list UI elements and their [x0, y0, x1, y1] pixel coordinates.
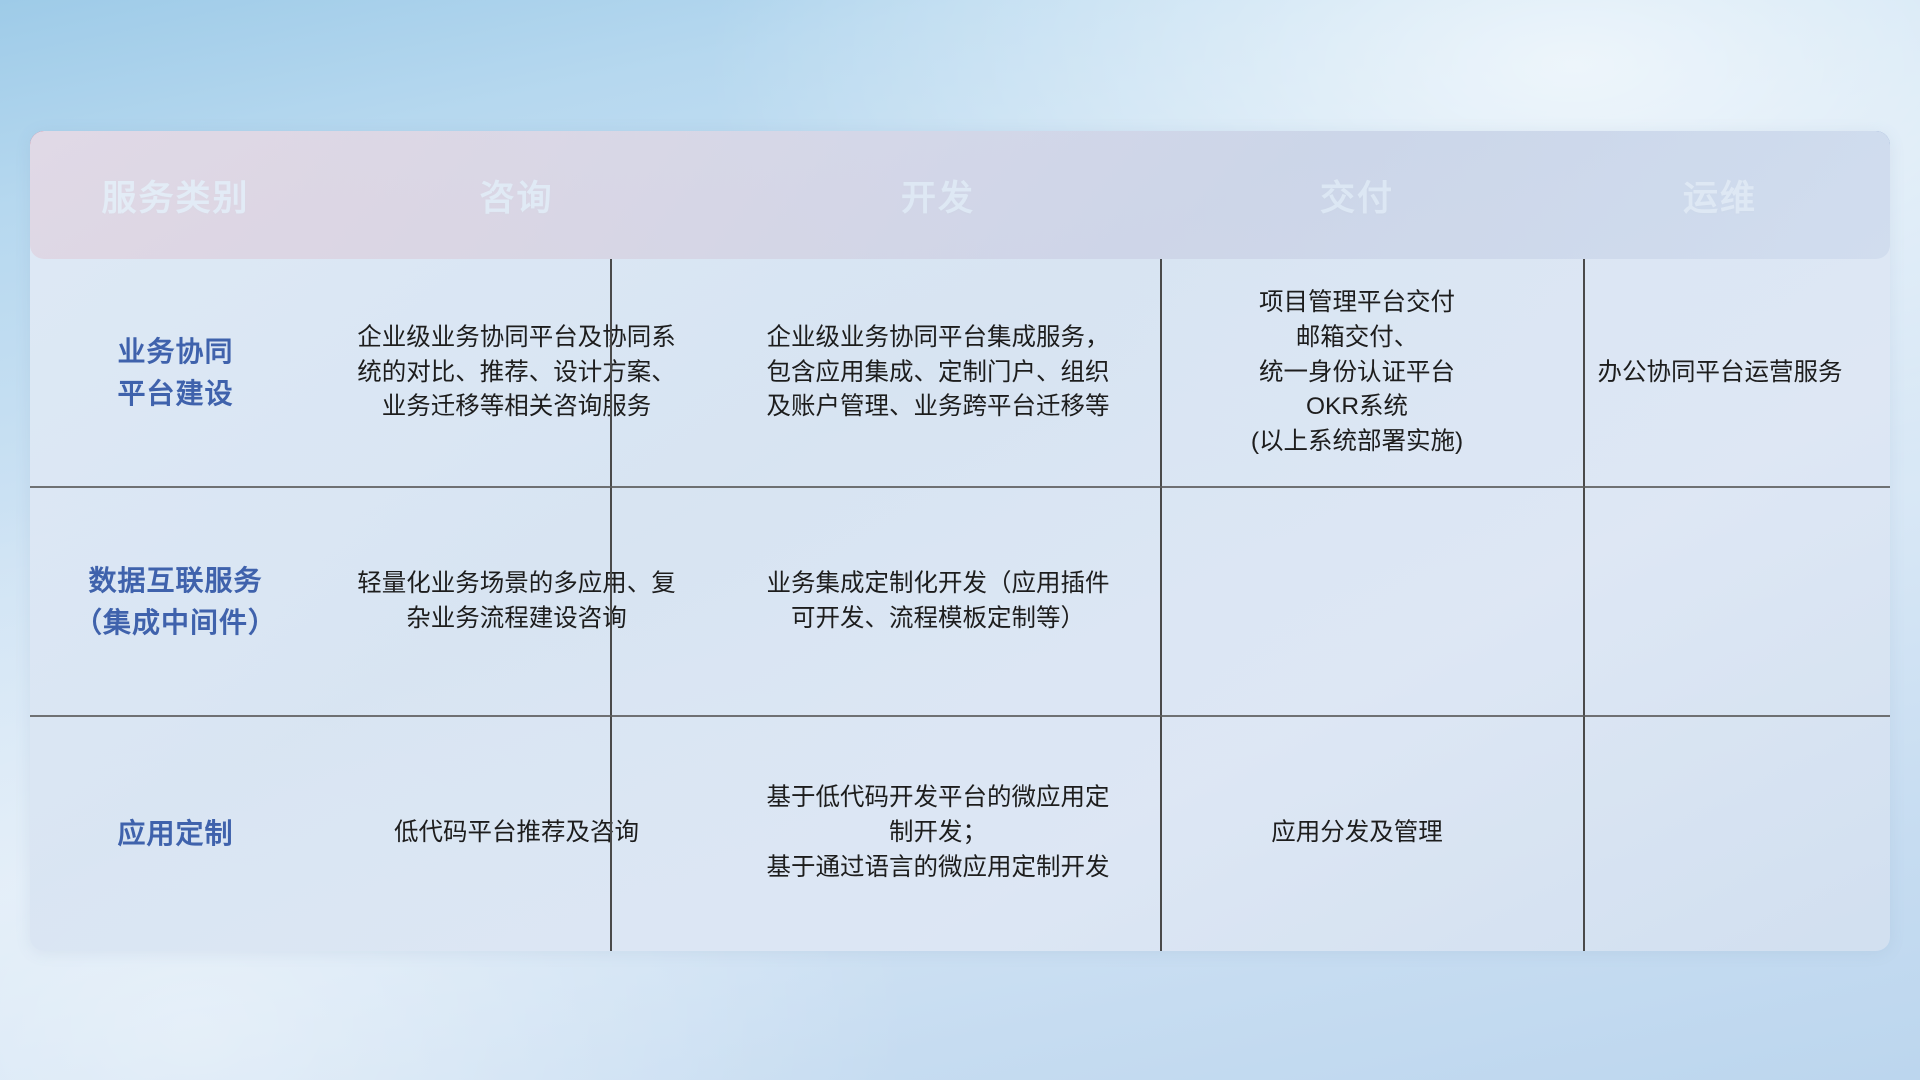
table-row: 应用定制 低代码平台推荐及咨询 基于低代码开发平台的微应用定 制开发； 基于通过…: [30, 716, 1890, 951]
cell-delivery: [1164, 487, 1550, 716]
cell-operations: 办公协同平台运营服务: [1550, 259, 1890, 487]
cell-development: 企业级业务协同平台集成服务， 包含应用集成、定制门户、组织 及账户管理、业务跨平…: [712, 259, 1164, 487]
cell-consulting: 企业级业务协同平台及协同系 统的对比、推荐、设计方案、 业务迁移等相关咨询服务: [321, 259, 712, 487]
row-divider: [30, 715, 1890, 717]
cell-development: 业务集成定制化开发（应用插件 可开发、流程模板定制等）: [712, 487, 1164, 716]
cell-consulting: 低代码平台推荐及咨询: [321, 716, 712, 951]
row-category-label: 业务协同 平台建设: [30, 259, 321, 487]
table-body: 业务协同 平台建设 企业级业务协同平台及协同系 统的对比、推荐、设计方案、 业务…: [30, 259, 1890, 951]
column-divider: [1160, 259, 1162, 951]
column-divider: [1583, 259, 1585, 951]
table-row: 业务协同 平台建设 企业级业务协同平台及协同系 统的对比、推荐、设计方案、 业务…: [30, 259, 1890, 487]
row-category-label: 应用定制: [30, 716, 321, 951]
cell-delivery: 应用分发及管理: [1164, 716, 1550, 951]
row-category-label: 数据互联服务 （集成中间件）: [30, 487, 321, 716]
row-divider: [30, 486, 1890, 488]
cell-operations: [1550, 716, 1890, 951]
slide-canvas: 服务类别 咨询 开发 交付 运维 业务协同 平台建设 企业级业务协同平台及协同系…: [0, 0, 1920, 1080]
table-row: 数据互联服务 （集成中间件） 轻量化业务场景的多应用、复 杂业务流程建设咨询 业…: [30, 487, 1890, 716]
cell-consulting: 轻量化业务场景的多应用、复 杂业务流程建设咨询: [321, 487, 712, 716]
column-divider: [610, 259, 612, 951]
cell-operations: [1550, 487, 1890, 716]
cell-development: 基于低代码开发平台的微应用定 制开发； 基于通过语言的微应用定制开发: [712, 716, 1164, 951]
cell-delivery: 项目管理平台交付 邮箱交付、 统一身份认证平台 OKR系统 (以上系统部署实施): [1164, 259, 1550, 487]
